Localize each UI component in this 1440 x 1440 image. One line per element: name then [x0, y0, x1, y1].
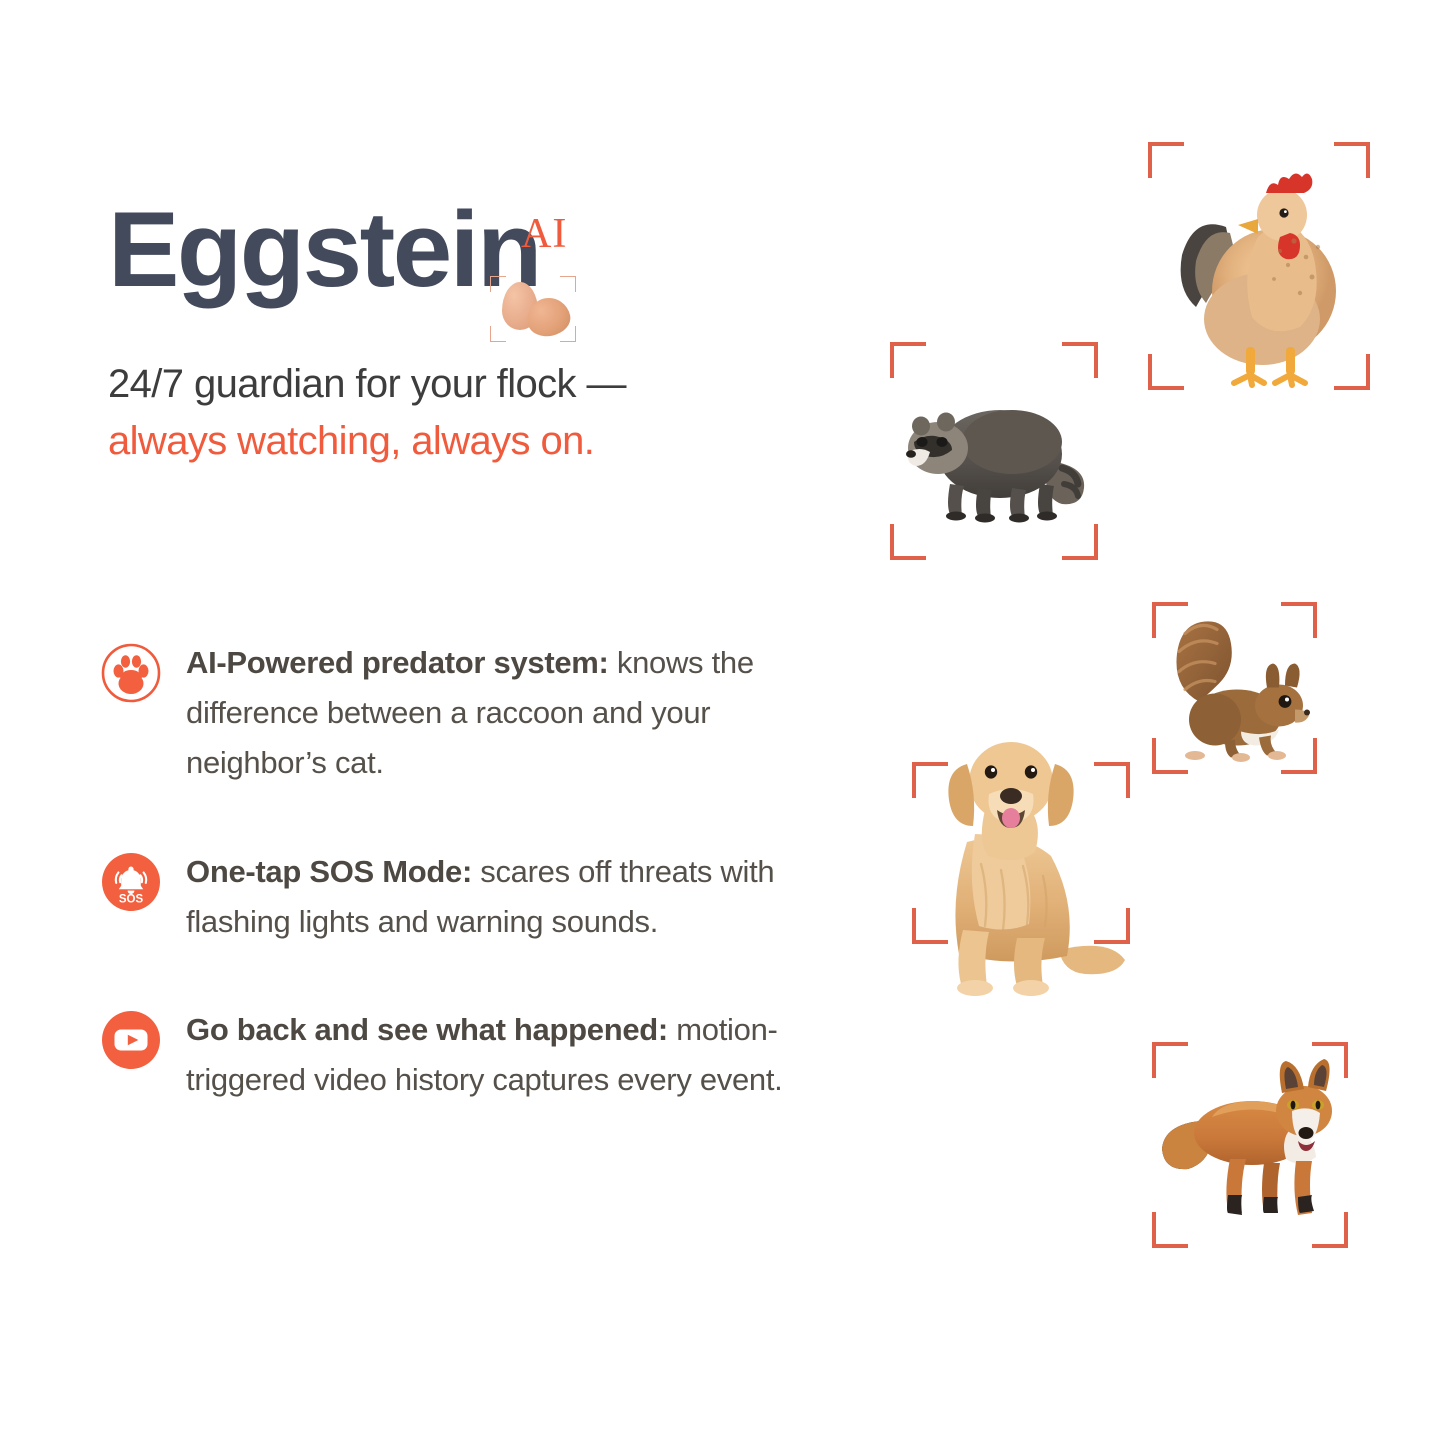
- feature-heading: One-tap SOS Mode:: [186, 854, 472, 889]
- feature-text: One-tap SOS Mode: scares off threats wit…: [186, 845, 840, 947]
- fox-photo: [1152, 1055, 1348, 1235]
- promo-page: Eggstein AI 24/7 guardian for your flock…: [0, 0, 1440, 1440]
- feature-list: AI-Powered predator system: knows the di…: [100, 636, 840, 1162]
- headline-block: Eggstein AI 24/7 guardian for your flock…: [108, 196, 828, 470]
- detection-chicken: [1148, 142, 1370, 390]
- feature-heading: Go back and see what happened:: [186, 1012, 668, 1047]
- brand-superscript-ai: AI: [521, 210, 567, 258]
- brand-lockup: Eggstein AI: [108, 196, 828, 326]
- tagline-line-1: 24/7 guardian for your flock —: [108, 356, 828, 413]
- chicken-photo: [1154, 141, 1364, 391]
- feature-item-predator-system: AI-Powered predator system: knows the di…: [100, 636, 840, 789]
- video-playback-icon: [100, 1009, 162, 1071]
- tagline-line-2: always watching, always on.: [108, 413, 828, 470]
- golden-retriever-photo: [901, 714, 1141, 1014]
- feature-heading: AI-Powered predator system:: [186, 645, 609, 680]
- brand-name: Eggstein: [108, 196, 540, 303]
- sos-icon-label: SOS: [119, 893, 144, 905]
- feature-item-video-history: Go back and see what happened: motion-tr…: [100, 1003, 840, 1105]
- paw-print-icon: [100, 642, 162, 704]
- detection-raccoon: [890, 342, 1098, 560]
- detection-fox: [1152, 1042, 1348, 1248]
- feature-text: Go back and see what happened: motion-tr…: [186, 1003, 840, 1105]
- eggs-in-detection-frame-icon: [490, 276, 576, 342]
- feature-text: AI-Powered predator system: knows the di…: [186, 636, 840, 789]
- raccoon-photo: [894, 376, 1094, 526]
- detection-dog: [912, 762, 1130, 944]
- squirrel-photo: [1155, 606, 1315, 771]
- sos-alarm-bell-icon: SOS: [100, 851, 162, 913]
- detection-squirrel: [1152, 602, 1317, 774]
- feature-item-sos-mode: SOS One-tap SOS Mode: scares off threats…: [100, 845, 840, 947]
- tagline: 24/7 guardian for your flock — always wa…: [108, 356, 828, 470]
- detection-photo-panel: [860, 0, 1440, 1440]
